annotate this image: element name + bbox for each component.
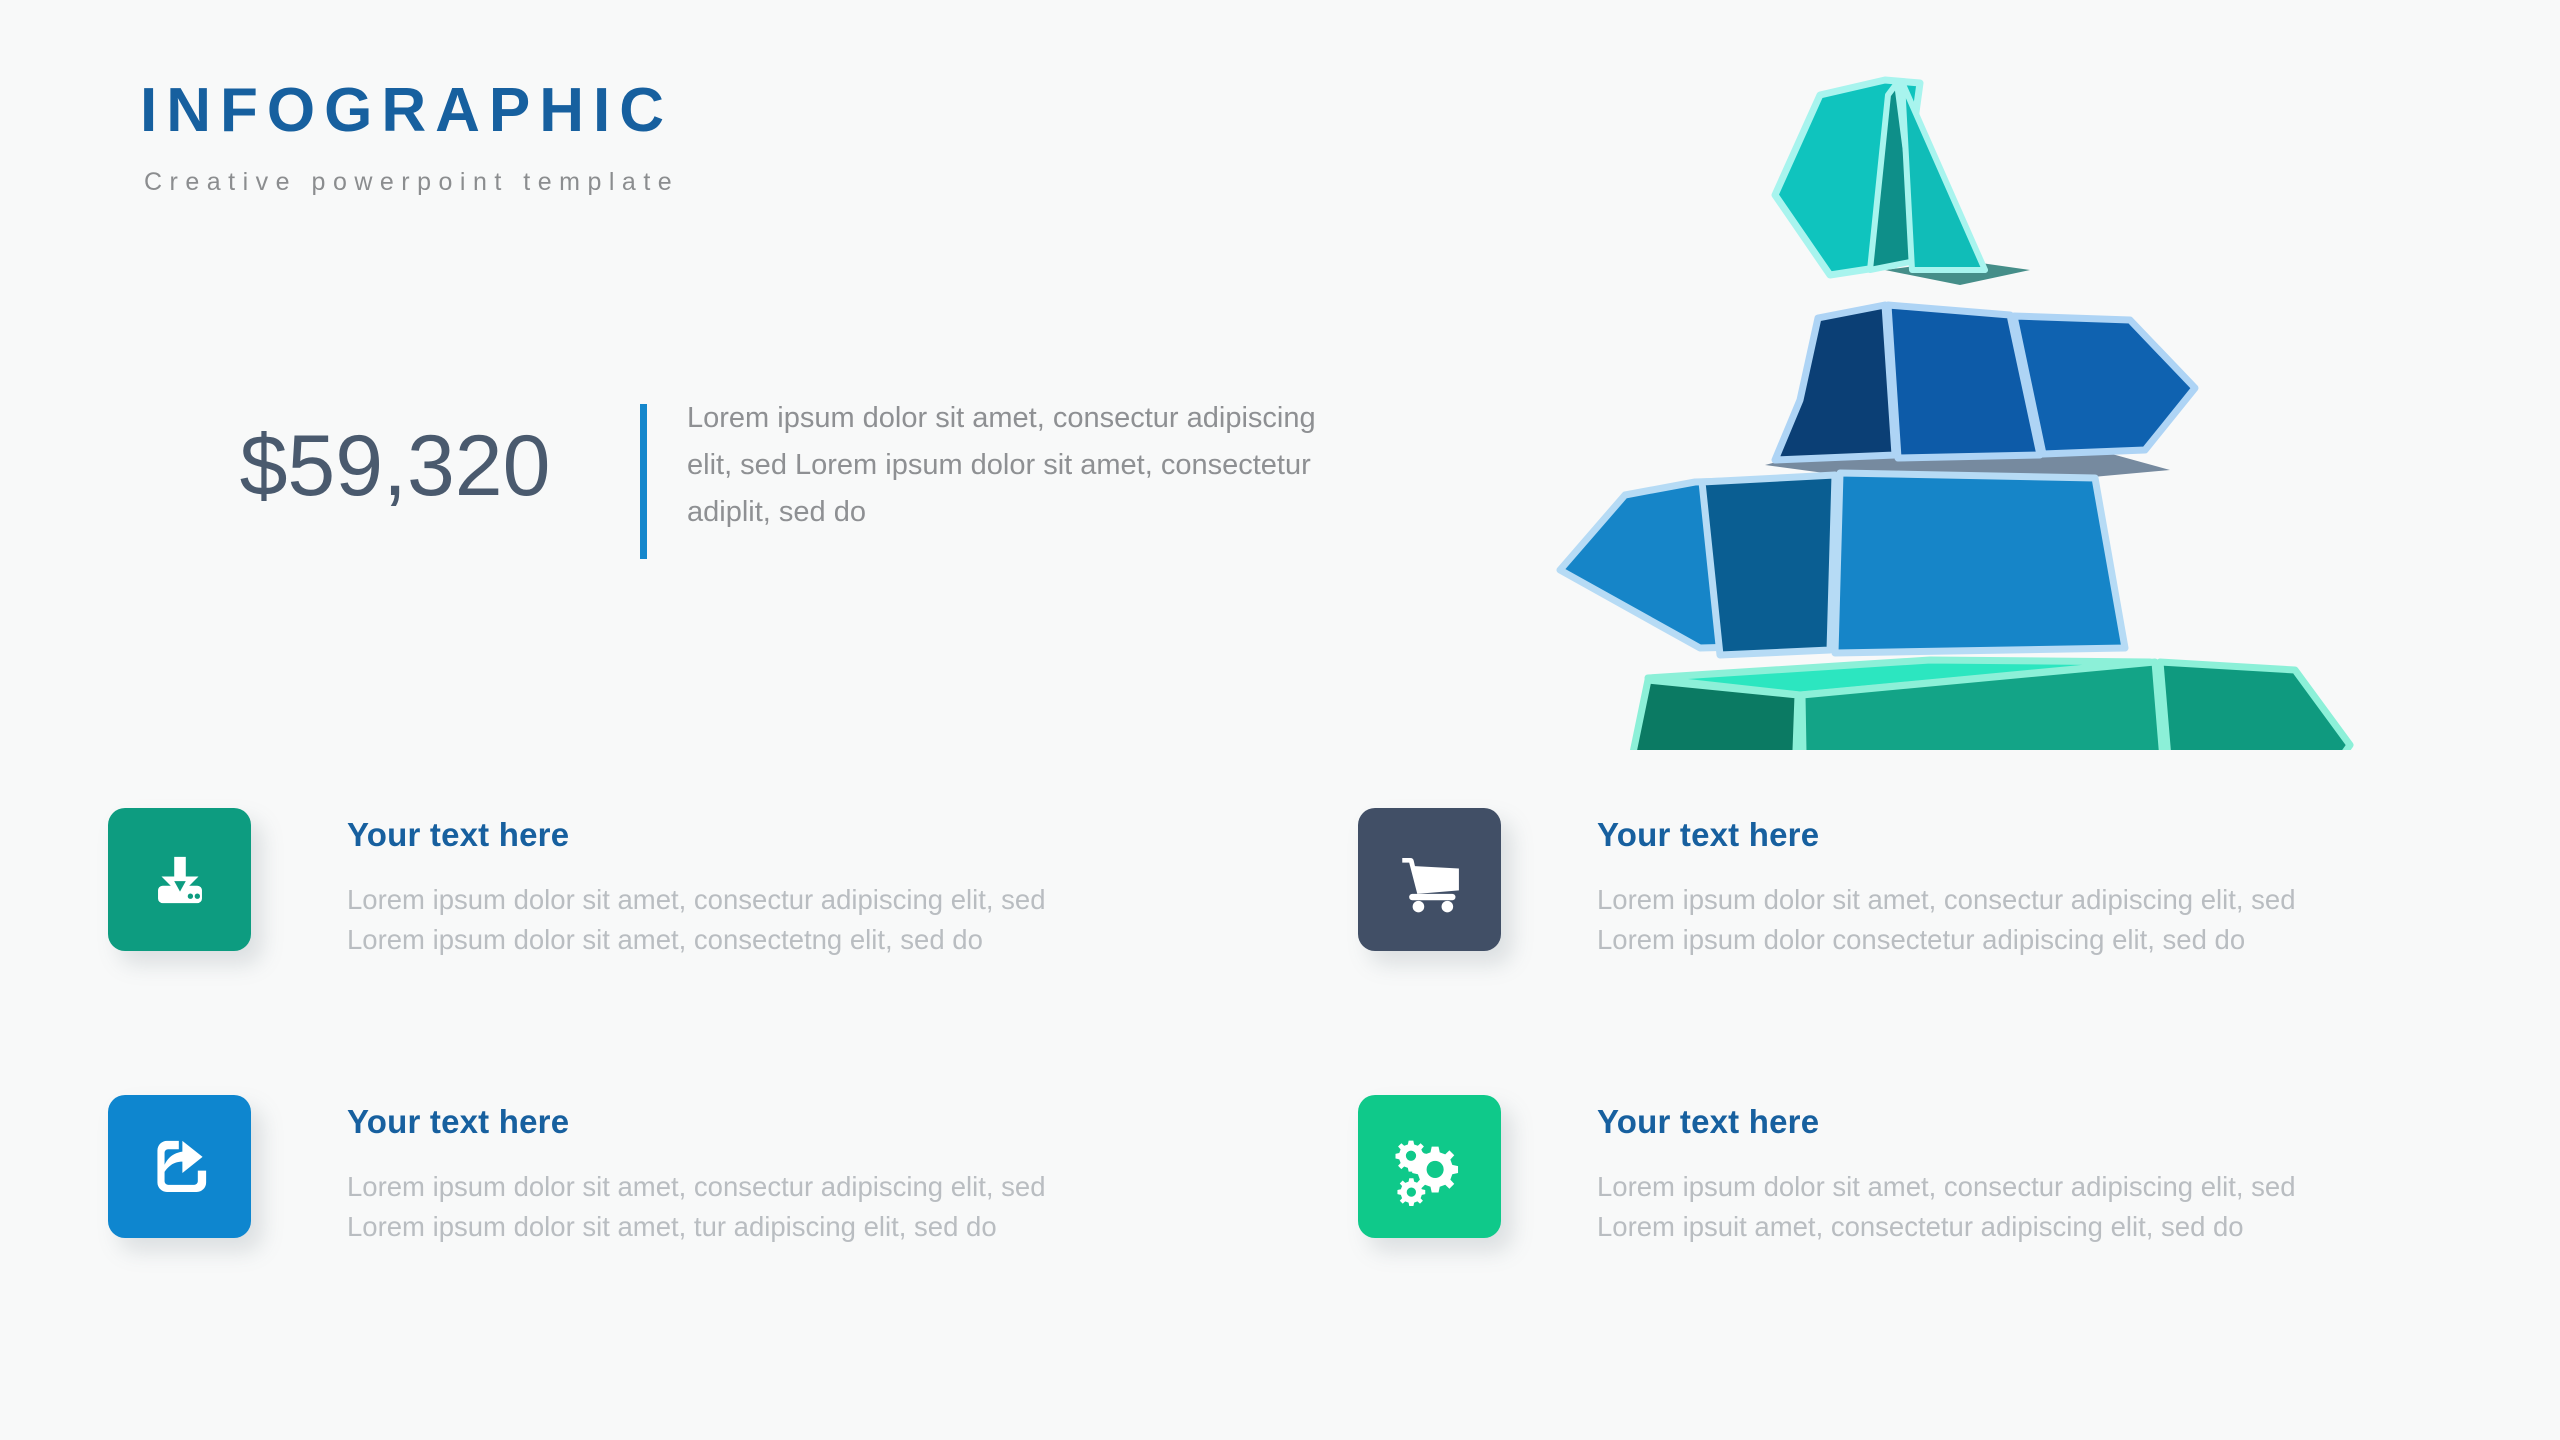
feature-text: Your text here Lorem ipsum dolor sit ame…: [347, 808, 1046, 961]
feature-line-2: Lorem ipsuit amet, consectetur adipiscin…: [1597, 1207, 2296, 1247]
feature-item-gears[interactable]: Your text here Lorem ipsum dolor sit ame…: [1358, 1095, 2296, 1248]
share-icon: [142, 1129, 218, 1205]
vertical-divider: [640, 404, 647, 559]
feature-icon-tile[interactable]: [108, 808, 251, 951]
pyramid-layer-third: [1560, 473, 2125, 655]
download-icon: [143, 843, 217, 917]
feature-item-share[interactable]: Your text here Lorem ipsum dolor sit ame…: [108, 1095, 1046, 1248]
gears-icon: [1391, 1128, 1469, 1206]
feature-line-2: Lorem ipsum dolor consectetur adipiscing…: [1597, 920, 2296, 960]
feature-line-2: Lorem ipsum dolor sit amet, consectetng …: [347, 920, 1046, 960]
exploded-pyramid-graphic: [1530, 70, 2390, 750]
highlight-stat-block: $59,320 Lorem ipsum dolor sit amet, cons…: [150, 395, 1327, 559]
feature-line-1: Lorem ipsum dolor sit amet, consectur ad…: [1597, 1167, 2296, 1207]
pyramid-layer-second: [1765, 305, 2195, 490]
feature-line-1: Lorem ipsum dolor sit amet, consectur ad…: [1597, 880, 2296, 920]
feature-item-download[interactable]: Your text here Lorem ipsum dolor sit ame…: [108, 808, 1046, 961]
header: INFOGRAPHIC Creative powerpoint template: [140, 80, 679, 197]
feature-title: Your text here: [1597, 1103, 2296, 1141]
pyramid-layer-apex: [1775, 80, 2030, 285]
feature-text: Your text here Lorem ipsum dolor sit ame…: [1597, 808, 2296, 961]
feature-line-2: Lorem ipsum dolor sit amet, tur adipisci…: [347, 1207, 1046, 1247]
feature-icon-tile[interactable]: [1358, 1095, 1501, 1238]
feature-text: Your text here Lorem ipsum dolor sit ame…: [1597, 1095, 2296, 1248]
highlight-description: Lorem ipsum dolor sit amet, consectur ad…: [687, 395, 1327, 536]
shopping-cart-icon: [1393, 843, 1467, 917]
page-title: INFOGRAPHIC: [140, 80, 679, 142]
feature-icon-tile[interactable]: [108, 1095, 251, 1238]
feature-line-1: Lorem ipsum dolor sit amet, consectur ad…: [347, 880, 1046, 920]
feature-title: Your text here: [1597, 816, 2296, 854]
page-subtitle: Creative powerpoint template: [144, 168, 679, 197]
feature-title: Your text here: [347, 1103, 1046, 1141]
feature-item-cart[interactable]: Your text here Lorem ipsum dolor sit ame…: [1358, 808, 2296, 961]
feature-line-1: Lorem ipsum dolor sit amet, consectur ad…: [347, 1167, 1046, 1207]
feature-icon-tile[interactable]: [1358, 808, 1501, 951]
highlight-value: $59,320: [150, 395, 640, 509]
pyramid-layer-base: [1615, 660, 2350, 750]
feature-title: Your text here: [347, 816, 1046, 854]
feature-text: Your text here Lorem ipsum dolor sit ame…: [347, 1095, 1046, 1248]
infographic-slide: INFOGRAPHIC Creative powerpoint template…: [0, 0, 2560, 1440]
